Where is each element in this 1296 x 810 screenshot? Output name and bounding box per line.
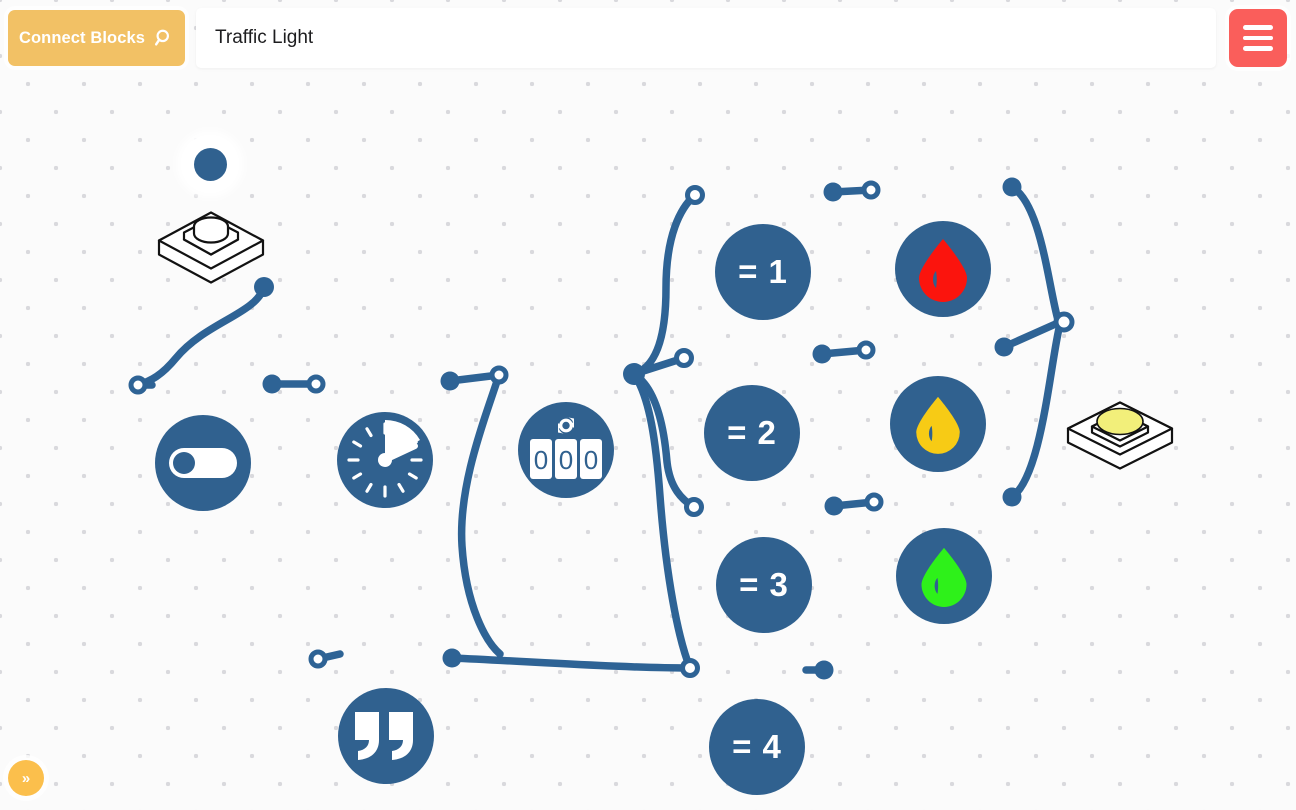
hamburger-menu-icon-bar-1 bbox=[1243, 25, 1273, 30]
counter-digit-1: 0 bbox=[559, 445, 573, 475]
top-header-bar: Connect Blocks Untitled Project bbox=[0, 0, 1296, 76]
led-icon bbox=[1060, 389, 1180, 473]
hamburger-menu-icon-bar-2 bbox=[1243, 36, 1273, 41]
compare-equals-2-block[interactable]: = 2 bbox=[704, 385, 800, 481]
project-title-bar[interactable]: Untitled Project bbox=[196, 8, 1216, 68]
compare-equals-4-label: = 4 bbox=[732, 728, 782, 766]
connect-blocks-label: Connect Blocks bbox=[19, 29, 145, 48]
compare-equals-2-label: = 2 bbox=[727, 414, 777, 452]
indicator-port[interactable] bbox=[181, 135, 239, 193]
droplet-icon bbox=[909, 393, 967, 455]
color-green-block[interactable] bbox=[896, 528, 992, 624]
led-output-component[interactable] bbox=[1060, 389, 1180, 478]
toggle-switch-block[interactable] bbox=[155, 415, 251, 511]
counter-digit-2: 0 bbox=[584, 445, 598, 475]
hamburger-menu-icon-bar-3 bbox=[1243, 46, 1273, 51]
quote-icon bbox=[353, 710, 419, 762]
push-button-icon bbox=[151, 203, 271, 287]
compare-equals-3-block[interactable]: = 3 bbox=[716, 537, 812, 633]
droplet-icon bbox=[911, 235, 975, 303]
indicator-port-dot[interactable] bbox=[181, 135, 239, 193]
search-icon bbox=[154, 28, 174, 48]
connect-blocks-button[interactable]: Connect Blocks bbox=[8, 10, 185, 66]
counter-digit-0: 0 bbox=[534, 445, 548, 475]
node-layer: 0 0 0 = 1 = 2 = 3 = 4 bbox=[0, 76, 1296, 810]
droplet-icon bbox=[914, 544, 974, 608]
application-root: Connect Blocks Untitled Project bbox=[0, 0, 1296, 810]
indicator-port-inner-dot bbox=[194, 148, 227, 181]
compare-equals-3-label: = 3 bbox=[739, 566, 789, 604]
toggle-switch-icon bbox=[167, 446, 239, 480]
project-title-input[interactable] bbox=[196, 8, 1216, 68]
push-button-component[interactable] bbox=[151, 203, 271, 292]
refresh-icon bbox=[558, 417, 574, 434]
block-canvas[interactable]: 0 0 0 = 1 = 2 = 3 = 4 bbox=[0, 76, 1296, 810]
color-red-block[interactable] bbox=[895, 221, 991, 317]
compare-equals-1-block[interactable]: = 1 bbox=[715, 224, 811, 320]
hamburger-menu-button[interactable] bbox=[1229, 9, 1287, 67]
gauge-timer-icon bbox=[339, 414, 431, 506]
timer-gauge-block[interactable] bbox=[337, 412, 433, 508]
expand-panel-button[interactable]: » bbox=[8, 760, 44, 796]
counter-block[interactable]: 0 0 0 bbox=[518, 402, 614, 498]
chevron-double-right-icon: » bbox=[22, 771, 30, 786]
compare-equals-1-label: = 1 bbox=[738, 253, 788, 291]
compare-equals-4-block[interactable]: = 4 bbox=[709, 699, 805, 795]
color-yellow-block[interactable] bbox=[890, 376, 986, 472]
counter-icon: 0 0 0 bbox=[524, 413, 608, 487]
quote-text-block[interactable] bbox=[338, 688, 434, 784]
